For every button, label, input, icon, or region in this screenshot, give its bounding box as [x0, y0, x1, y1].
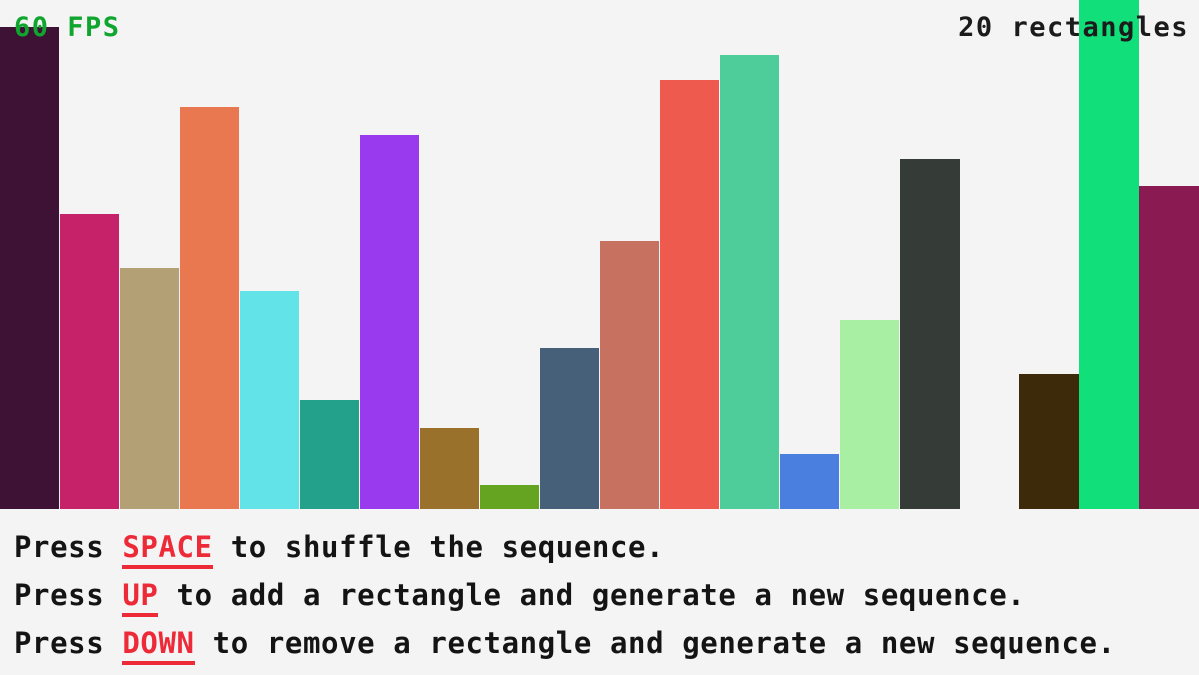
- instruction-prefix: Press: [14, 530, 122, 564]
- bar-19-dark-maroon[interactable]: [1139, 186, 1199, 509]
- key-up[interactable]: UP: [122, 578, 158, 617]
- bar-18-spring-green[interactable]: [1079, 0, 1139, 509]
- fps-counter: 60 FPS: [14, 14, 121, 41]
- bar-9-slate-blue[interactable]: [540, 348, 599, 509]
- bar-15-charcoal[interactable]: [900, 159, 960, 509]
- bar-10-terracotta[interactable]: [600, 241, 659, 509]
- instruction-suffix: to shuffle the sequence.: [213, 530, 665, 564]
- key-down[interactable]: DOWN: [122, 626, 194, 665]
- bar-8-olive-green[interactable]: [480, 485, 539, 509]
- bar-13-blue[interactable]: [780, 454, 839, 509]
- instructions-panel: Press SPACE to shuffle the sequence.Pres…: [0, 509, 1199, 675]
- bar-7-ochre[interactable]: [420, 428, 479, 509]
- bar-2-tan[interactable]: [120, 268, 179, 509]
- bar-4-cyan[interactable]: [240, 291, 299, 509]
- instruction-prefix: Press: [14, 578, 122, 612]
- bar-12-jade[interactable]: [720, 55, 779, 509]
- rectangle-chart[interactable]: [0, 0, 1199, 509]
- instruction-line-1: Press SPACE to shuffle the sequence.: [14, 523, 1199, 571]
- key-space[interactable]: SPACE: [122, 530, 212, 569]
- bar-3-orange[interactable]: [180, 107, 239, 509]
- instruction-suffix: to add a rectangle and generate a new se…: [158, 578, 1025, 612]
- bar-11-red[interactable]: [660, 80, 719, 509]
- bar-0-dark-plum[interactable]: [0, 27, 59, 509]
- bar-14-mint[interactable]: [840, 320, 899, 509]
- instruction-prefix: Press: [14, 626, 122, 660]
- rectangle-count-label: 20 rectangles: [958, 14, 1189, 41]
- bar-6-violet[interactable]: [360, 135, 419, 509]
- app-canvas: 60 FPS 20 rectangles Press SPACE to shuf…: [0, 0, 1199, 675]
- instruction-line-2: Press UP to add a rectangle and generate…: [14, 571, 1199, 619]
- bar-17-dark-brown[interactable]: [1019, 374, 1079, 509]
- instruction-suffix: to remove a rectangle and generate a new…: [195, 626, 1116, 660]
- bar-1-magenta[interactable]: [60, 214, 119, 509]
- instruction-line-3: Press DOWN to remove a rectangle and gen…: [14, 619, 1199, 667]
- bar-5-teal[interactable]: [300, 400, 359, 509]
